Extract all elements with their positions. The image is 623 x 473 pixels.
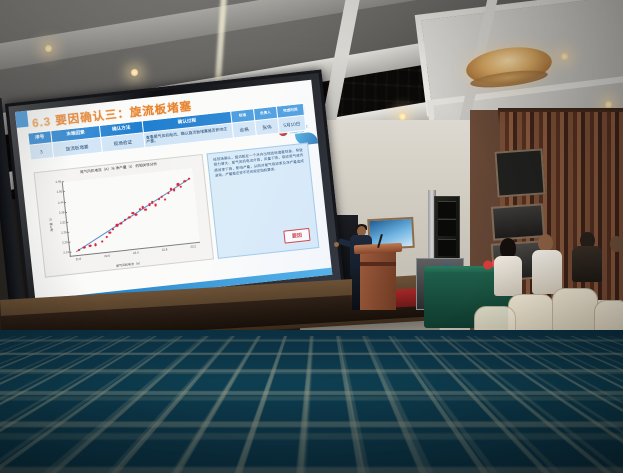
- cell-method: 现场验证: [101, 133, 145, 153]
- chart-x-tick: 21.6: [75, 256, 81, 261]
- wall-panel: [494, 148, 545, 197]
- cell-owner: 张伟: [255, 118, 280, 136]
- audience-head: [610, 236, 623, 252]
- cell-standard: 合格: [232, 121, 257, 139]
- presenter-hand: [334, 242, 339, 247]
- downlight-icon: [130, 68, 139, 77]
- audience-body: [532, 250, 562, 294]
- chart-x-tick: 22.4: [133, 250, 139, 255]
- downlight-icon: [560, 52, 569, 61]
- analysis-note-text: 经现场确认，旋流板在一个月内出现结垢堵塞现象，导致阻力增大、尾气风机电流升高，风…: [213, 148, 305, 179]
- chart-x-tick: 22.8: [161, 247, 167, 252]
- chart-y-tick: 2.56: [55, 180, 61, 185]
- audience-body: [572, 246, 602, 282]
- chart-y-tick: 2.26: [61, 230, 67, 235]
- line-array-speaker: [434, 196, 460, 264]
- chart-y-tick: 2.50: [56, 190, 62, 195]
- audience-body: [494, 256, 522, 296]
- podium: [360, 248, 396, 310]
- presentation-slide: 6.3 要因确认三：旋流板堵塞 中国石油化工 SINOPEC 序号 末端因素 确…: [15, 80, 332, 307]
- chart-x-tick: 22.0: [104, 253, 110, 258]
- downlight-icon: [44, 44, 53, 53]
- chart-y-tick: 2.38: [59, 210, 65, 215]
- analysis-note: 经现场确认，旋流板在一个月内出现结垢堵塞现象，导致阻力增大、尾气风机电流升高，风…: [207, 143, 320, 259]
- chart-y-axis-label: 净产量（t）: [48, 216, 54, 232]
- cell-time: 5月10日: [278, 115, 306, 133]
- slide-accent-bar: [15, 111, 29, 128]
- status-badge: 要因: [283, 228, 310, 244]
- chart-y-tick: 2.44: [58, 200, 64, 205]
- wall-panel: [491, 203, 545, 241]
- chart-x-tick: 23.2: [190, 244, 196, 249]
- podium-trim: [360, 262, 396, 266]
- chart-y-tick: 2.32: [60, 220, 66, 225]
- chart-y-tick: 2.14: [63, 250, 69, 255]
- chart-plot-area: 2.562.502.442.382.322.262.202.1421.622.0…: [62, 168, 200, 257]
- slide-title-number: 6.3: [32, 116, 52, 130]
- carpet-shading: [0, 330, 623, 473]
- chart-y-tick: 2.20: [62, 240, 68, 245]
- correlation-chart: 尾气风机电流（A）与 净产量（t） 的相关性分析 净产量（t） 2.562.50…: [34, 154, 214, 278]
- audience-head: [500, 238, 516, 258]
- cell-no: 3: [29, 143, 54, 161]
- conference-hall-photo: 6.3 要因确认三：旋流板堵塞 中国石油化工 SINOPEC 序号 末端因素 确…: [0, 0, 623, 473]
